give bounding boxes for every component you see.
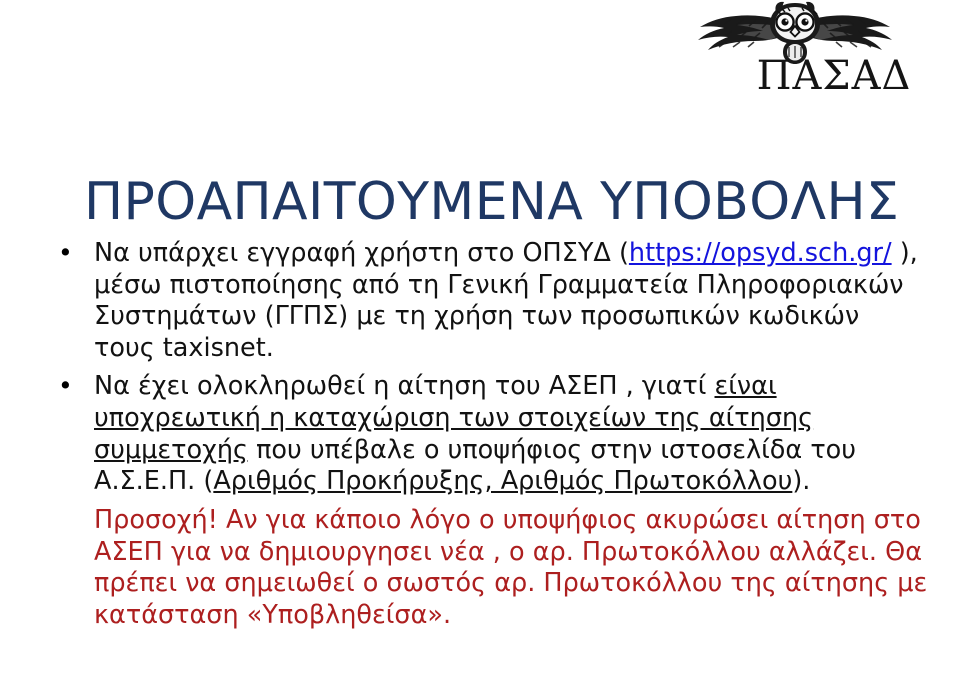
- pasad-logo: ΠΑΣΑΔ: [672, 0, 918, 114]
- pasad-wordmark: ΠΑΣΑΔ: [672, 56, 918, 96]
- bullet-text-part: Να υπάρχει εγγραφή χρήστη στο ΟΠΣΥΔ (: [94, 238, 629, 268]
- bullet-text-part: ).: [792, 466, 810, 496]
- requirements-list: Να υπάρχει εγγραφή χρήστη στο ΟΠΣΥΔ (htt…: [48, 238, 928, 498]
- bullet-text-part: Να έχει ολοκληρωθεί η αίτηση του ΑΣΕΠ , …: [94, 371, 715, 401]
- underlined-emphasis-numbers: Αριθμός Προκήρυξης, Αριθμός Πρωτοκόλλου: [213, 466, 792, 496]
- slide-title: ΠΡΟΑΠΑΙΤΟΥΜΕΝΑ ΥΠΟΒΟΛΗΣ: [84, 174, 884, 230]
- bullet-asep-application: Να έχει ολοκληρωθεί η αίτηση του ΑΣΕΠ , …: [48, 371, 928, 497]
- warning-paragraph: Προσοχή! Αν για κάποιο λόγο ο υποψήφιος …: [94, 505, 928, 632]
- bullet-opsyd-registration: Να υπάρχει εγγραφή χρήστη στο ΟΠΣΥΔ (htt…: [48, 238, 928, 364]
- opsyd-link[interactable]: https://opsyd.sch.gr/: [629, 238, 892, 268]
- slide-body: Να υπάρχει εγγραφή χρήστη στο ΟΠΣΥΔ (htt…: [48, 238, 928, 632]
- slide-canvas: ΠΑΣΑΔ ΠΡΟΑΠΑΙΤΟΥΜΕΝΑ ΥΠΟΒΟΛΗΣ Να υπάρχει…: [0, 0, 962, 699]
